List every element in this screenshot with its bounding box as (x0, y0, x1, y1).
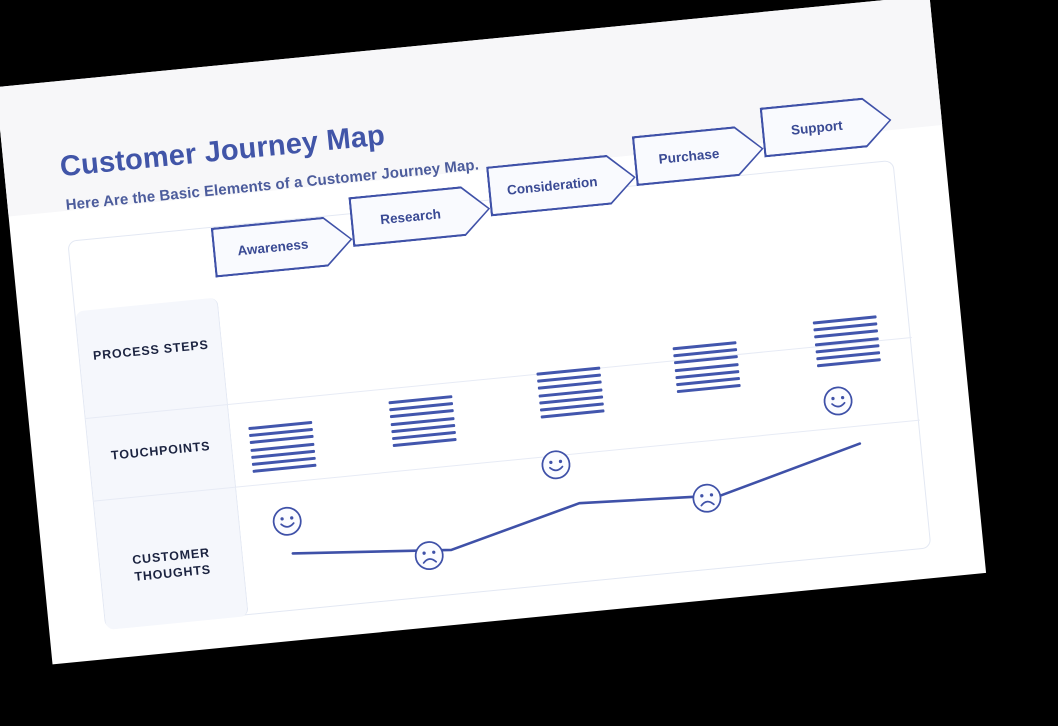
process-step-arrow-purchase[interactable]: Purchase (632, 124, 766, 186)
journey-grid: PROCESS STEPS TOUCHPOINTS CUSTOMER THOUG… (75, 230, 932, 629)
lines-icon[interactable] (813, 315, 881, 367)
smiley-face-icon[interactable] (821, 384, 855, 418)
lines-icon[interactable] (673, 341, 741, 393)
process-step-label: Awareness (237, 234, 329, 258)
arrow-body: Awareness (213, 217, 352, 276)
process-step-arrow-research[interactable]: Research (348, 184, 492, 247)
process-step-label: Research (380, 204, 462, 227)
sad-face-icon[interactable] (690, 481, 724, 515)
process-step-label: Support (790, 115, 863, 137)
process-step-arrow-awareness[interactable]: Awareness (211, 214, 355, 277)
process-step-label: Purchase (658, 143, 740, 166)
arrow-body: Research (351, 186, 490, 245)
screenshot-stage: Customer Journey Map Here Are the Basic … (0, 0, 1058, 726)
journey-map-panel: Awareness Research Consideration Purchas… (67, 160, 931, 629)
arrow-body: Consideration (488, 155, 635, 214)
arrow-body: Purchase (634, 126, 763, 184)
journey-map-card: Customer Journey Map Here Are the Basic … (0, 0, 986, 664)
smiley-face-icon[interactable] (539, 448, 573, 482)
arrow-body: Support (762, 97, 891, 155)
lines-icon[interactable] (248, 421, 316, 473)
lines-icon[interactable] (536, 367, 604, 419)
lines-icon[interactable] (388, 395, 456, 447)
sad-face-icon[interactable] (412, 539, 446, 573)
process-step-label: Consideration (506, 171, 618, 197)
smiley-face-icon[interactable] (270, 504, 304, 538)
process-step-arrow-consideration[interactable]: Consideration (486, 152, 638, 216)
